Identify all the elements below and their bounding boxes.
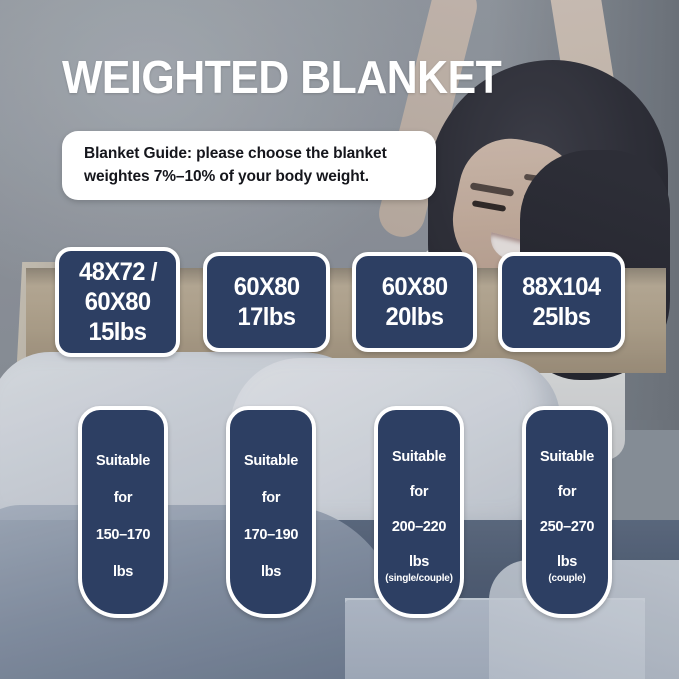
suitable-line-3: 150–170 [96,526,150,544]
suitable-card[interactable]: Suitable for 150–170 lbs [78,406,168,618]
suitable-card-row: Suitable for 150–170 lbs Suitable for 17… [0,406,679,621]
size-card[interactable]: 60X80 17lbs [203,252,330,352]
suitable-note: (single/couple) [385,572,453,585]
suitable-line-1: Suitable [392,448,446,466]
infographic-root: WEIGHTED BLANKET Blanket Guide: please c… [0,0,679,679]
size-card-line-2: 25lbs [533,302,591,332]
suitable-card[interactable]: Suitable for 170–190 lbs [226,406,316,618]
guide-line-1: Blanket Guide: please choose the blanket [84,142,418,165]
size-card-line-3: 15lbs [89,317,147,347]
suitable-line-3: 170–190 [244,526,298,544]
overlay-content: WEIGHTED BLANKET Blanket Guide: please c… [0,0,679,679]
suitable-line-1: Suitable [244,452,298,470]
suitable-line-2: for [410,483,428,501]
suitable-line-3: 250–270 [540,518,594,536]
suitable-line-1: Suitable [96,452,150,470]
suitable-line-1: Suitable [540,448,594,466]
size-card-line-1: 48X72 / [79,257,157,287]
size-card-line-1: 60X80 [382,272,448,302]
size-card[interactable]: 60X80 20lbs [352,252,477,352]
suitable-card[interactable]: Suitable for 200–220 lbs (single/couple) [374,406,464,618]
suitable-note: (couple) [548,572,585,585]
size-card[interactable]: 88X104 25lbs [498,252,625,352]
size-card-line-2: 60X80 [85,287,151,317]
size-card-line-2: 17lbs [238,302,296,332]
suitable-line-2: for [114,489,132,507]
size-card[interactable]: 48X72 / 60X80 15lbs [55,247,180,357]
suitable-card[interactable]: Suitable for 250–270 lbs (couple) [522,406,612,618]
size-card-line-1: 60X80 [234,272,300,302]
suitable-line-2: for [262,489,280,507]
suitable-line-4: lbs [409,553,429,571]
suitable-line-4: lbs [557,553,577,571]
suitable-line-4: lbs [261,563,281,581]
size-card-row: 48X72 / 60X80 15lbs 60X80 17lbs 60X80 20… [0,247,679,362]
blanket-guide-box: Blanket Guide: please choose the blanket… [62,131,436,200]
suitable-line-2: for [558,483,576,501]
suitable-line-3: 200–220 [392,518,446,536]
guide-line-2: weightes 7%–10% of your body weight. [84,165,418,188]
page-title: WEIGHTED BLANKET [62,50,501,104]
size-card-line-2: 20lbs [386,302,444,332]
size-card-line-1: 88X104 [522,272,600,302]
suitable-line-4: lbs [113,563,133,581]
